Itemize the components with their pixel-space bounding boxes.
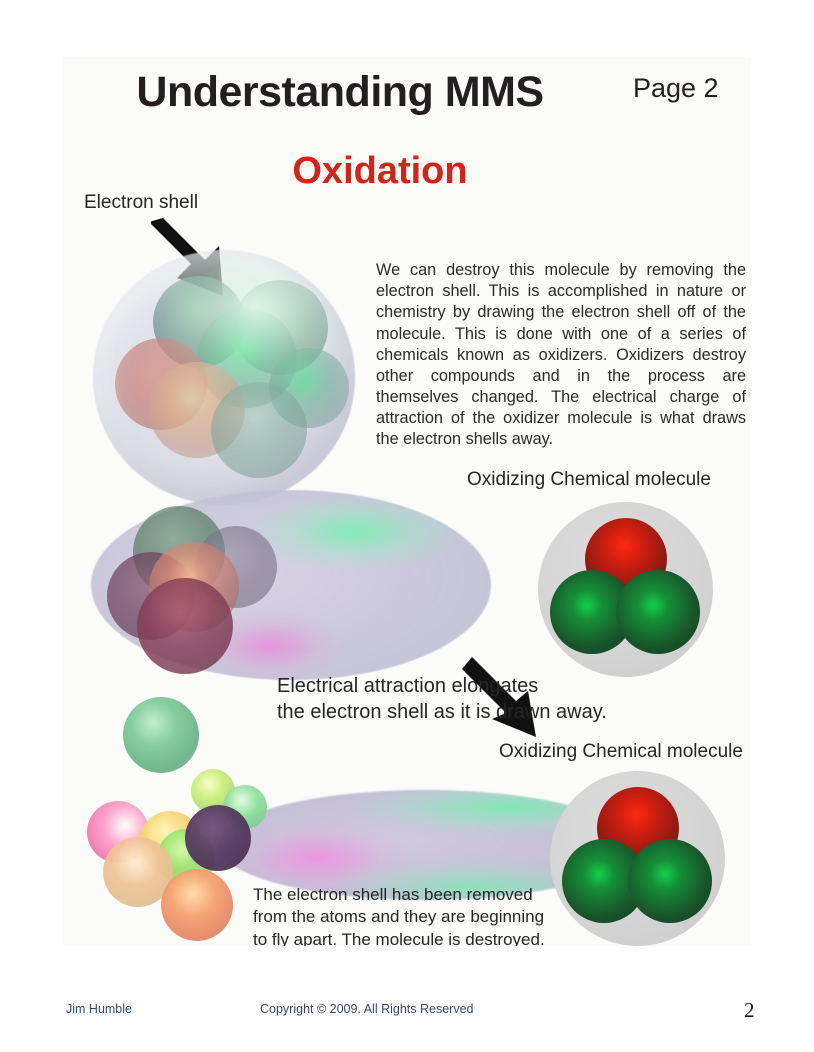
footer-copyright: Copyright © 2009. All Rights Reserved: [260, 1002, 473, 1016]
document-page: Understanding MMS Page 2 Oxidation Elect…: [0, 0, 814, 1052]
figure-oxidizing-molecule-top: [538, 502, 713, 677]
atom-orange-lower: [161, 869, 233, 941]
oxidizer-green-atom-right-bottom: [628, 839, 712, 923]
figure-elongated-shell-molecule: [91, 490, 491, 685]
oxidizing-molecule-caption-top: Oxidizing Chemical molecule: [467, 468, 711, 492]
footer-author: Jim Humble: [66, 1002, 132, 1016]
page-label: Page 2: [633, 73, 719, 104]
electron-shell-label: Electron shell: [84, 191, 198, 215]
figure-oxidizing-molecule-bottom: [550, 771, 725, 946]
page-title: Understanding MMS: [80, 68, 600, 117]
atom-dark-purple: [185, 805, 251, 871]
slide-content-area: Understanding MMS Page 2 Oxidation Elect…: [63, 57, 751, 946]
footer-page-number: 2: [744, 998, 755, 1023]
section-subtitle: Oxidation: [80, 150, 680, 193]
figure-intact-molecule: [93, 250, 355, 505]
electron-shell-sphere: [93, 250, 355, 505]
body-paragraph: We can destroy this molecule by removing…: [376, 260, 746, 451]
destroyed-molecule-caption: The electron shell has been removed from…: [253, 884, 545, 946]
oxidizing-molecule-caption-bottom: Oxidizing Chemical molecule: [499, 740, 743, 764]
atom-detached-green: [123, 697, 199, 773]
oxidizer-green-atom-right-top: [616, 570, 700, 654]
atom-mid-maroon-bottom: [137, 578, 233, 674]
